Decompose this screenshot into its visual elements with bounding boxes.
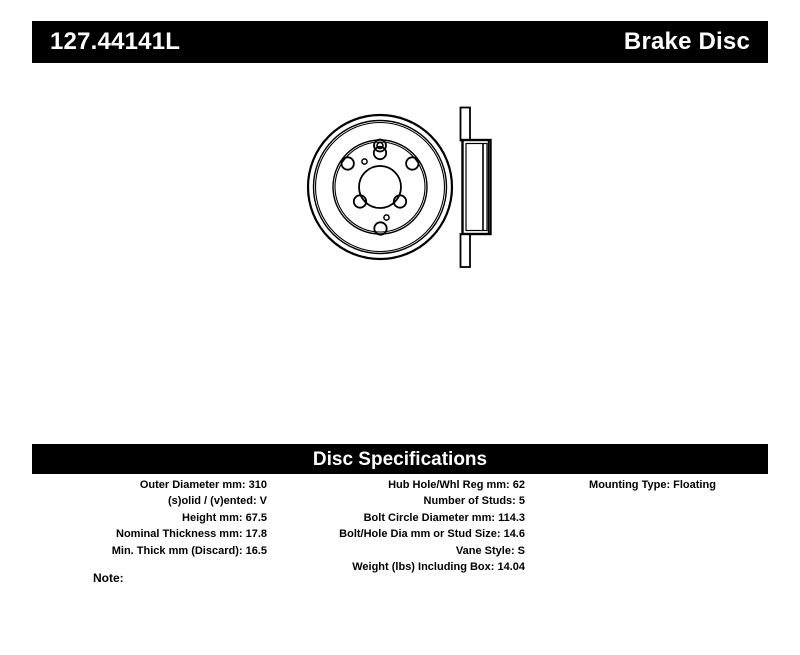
spec-row: Mounting Type: Floating	[537, 477, 768, 493]
spec-column-right: Mounting Type: Floating	[537, 477, 768, 493]
brake-disc-face-view	[308, 115, 452, 259]
spec-sheet: 127.44141L Brake Disc	[0, 0, 800, 655]
hat-flange-lower	[461, 234, 471, 267]
spec-row: Min. Thick mm (Discard): 16.5	[32, 543, 267, 559]
spec-row: Outer Diameter mm: 310	[32, 477, 267, 493]
spec-section-header: Disc Specifications	[32, 444, 768, 474]
spec-row: Nominal Thickness mm: 17.8	[32, 526, 267, 542]
rotor-outer-edge-circle	[308, 115, 452, 259]
spec-column-left: Outer Diameter mm: 310 (s)olid / (v)ente…	[32, 477, 267, 559]
spec-row: Bolt/Hole Dia mm or Stud Size: 14.6	[275, 526, 525, 542]
hat-flange-upper	[461, 108, 471, 141]
rotor-body-inner-wall	[466, 144, 487, 231]
technical-drawing	[280, 95, 530, 290]
spec-column-middle: Hub Hole/Whl Reg mm: 62 Number of Studs:…	[275, 477, 525, 575]
note-label: Note:	[93, 571, 124, 585]
spec-row: Height mm: 67.5	[32, 510, 267, 526]
brake-disc-side-section-view	[461, 108, 491, 268]
note-area: Note:	[32, 571, 768, 595]
spec-row: (s)olid / (v)ented: V	[32, 493, 267, 509]
product-type-label: Brake Disc	[624, 30, 750, 54]
spec-row: Bolt Circle Diameter mm: 114.3	[275, 510, 525, 526]
spec-row: Hub Hole/Whl Reg mm: 62	[275, 477, 525, 493]
spec-row: Vane Style: S	[275, 543, 525, 559]
spec-section-title: Disc Specifications	[313, 450, 487, 469]
part-number-label: 127.44141L	[50, 30, 180, 54]
brake-disc-drawing-svg	[280, 95, 530, 290]
spec-row: Number of Studs: 5	[275, 493, 525, 509]
title-bar: 127.44141L Brake Disc	[32, 21, 768, 63]
